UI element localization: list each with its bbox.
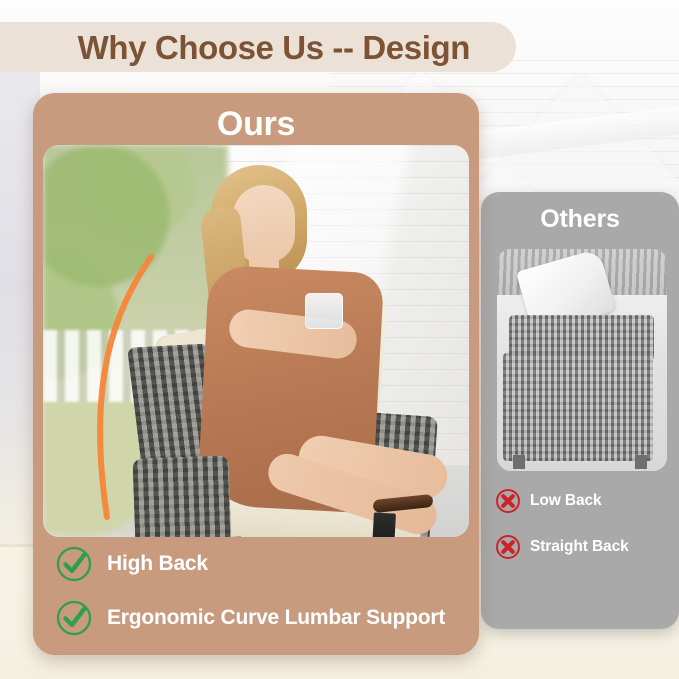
others-feature-label: Low Back bbox=[530, 492, 602, 510]
check-circle-icon bbox=[55, 599, 93, 637]
ours-feature-row: Ergonomic Curve Lumbar Support bbox=[55, 599, 463, 637]
page-title-banner: Why Choose Us -- Design bbox=[0, 22, 516, 72]
ours-feature-label: Ergonomic Curve Lumbar Support bbox=[107, 606, 445, 630]
ours-feature-list: High Back Ergonomic Curve Lumbar Support bbox=[55, 545, 463, 637]
ours-feature-row: High Back bbox=[55, 545, 463, 583]
others-card-title: Others bbox=[481, 205, 679, 234]
chair-leg-front bbox=[220, 536, 245, 537]
others-feature-list: Low Back Straight Back bbox=[495, 488, 669, 580]
others-feature-row: Low Back bbox=[495, 488, 669, 514]
ours-product-photo bbox=[43, 145, 469, 537]
ours-card-title: Ours bbox=[33, 105, 479, 144]
model-drink-glass bbox=[305, 293, 343, 329]
others-chair-leg-left bbox=[513, 455, 525, 469]
others-product-photo bbox=[497, 249, 667, 471]
chair-arm-left bbox=[132, 455, 233, 537]
x-circle-icon bbox=[495, 534, 521, 560]
others-chair-body bbox=[503, 353, 653, 461]
ours-card: Ours bbox=[33, 93, 479, 655]
check-circle-icon bbox=[55, 545, 93, 583]
page-title: Why Choose Us -- Design bbox=[78, 31, 470, 64]
others-card: Others Low Back bbox=[481, 192, 679, 629]
chair-leg-back bbox=[372, 512, 396, 537]
x-circle-icon bbox=[495, 488, 521, 514]
ours-feature-label: High Back bbox=[107, 552, 208, 576]
others-chair-leg-right bbox=[635, 455, 647, 469]
others-feature-row: Straight Back bbox=[495, 534, 669, 560]
others-feature-label: Straight Back bbox=[530, 538, 629, 556]
comparison-infographic: Why Choose Us -- Design Others Low Bac bbox=[0, 0, 679, 679]
